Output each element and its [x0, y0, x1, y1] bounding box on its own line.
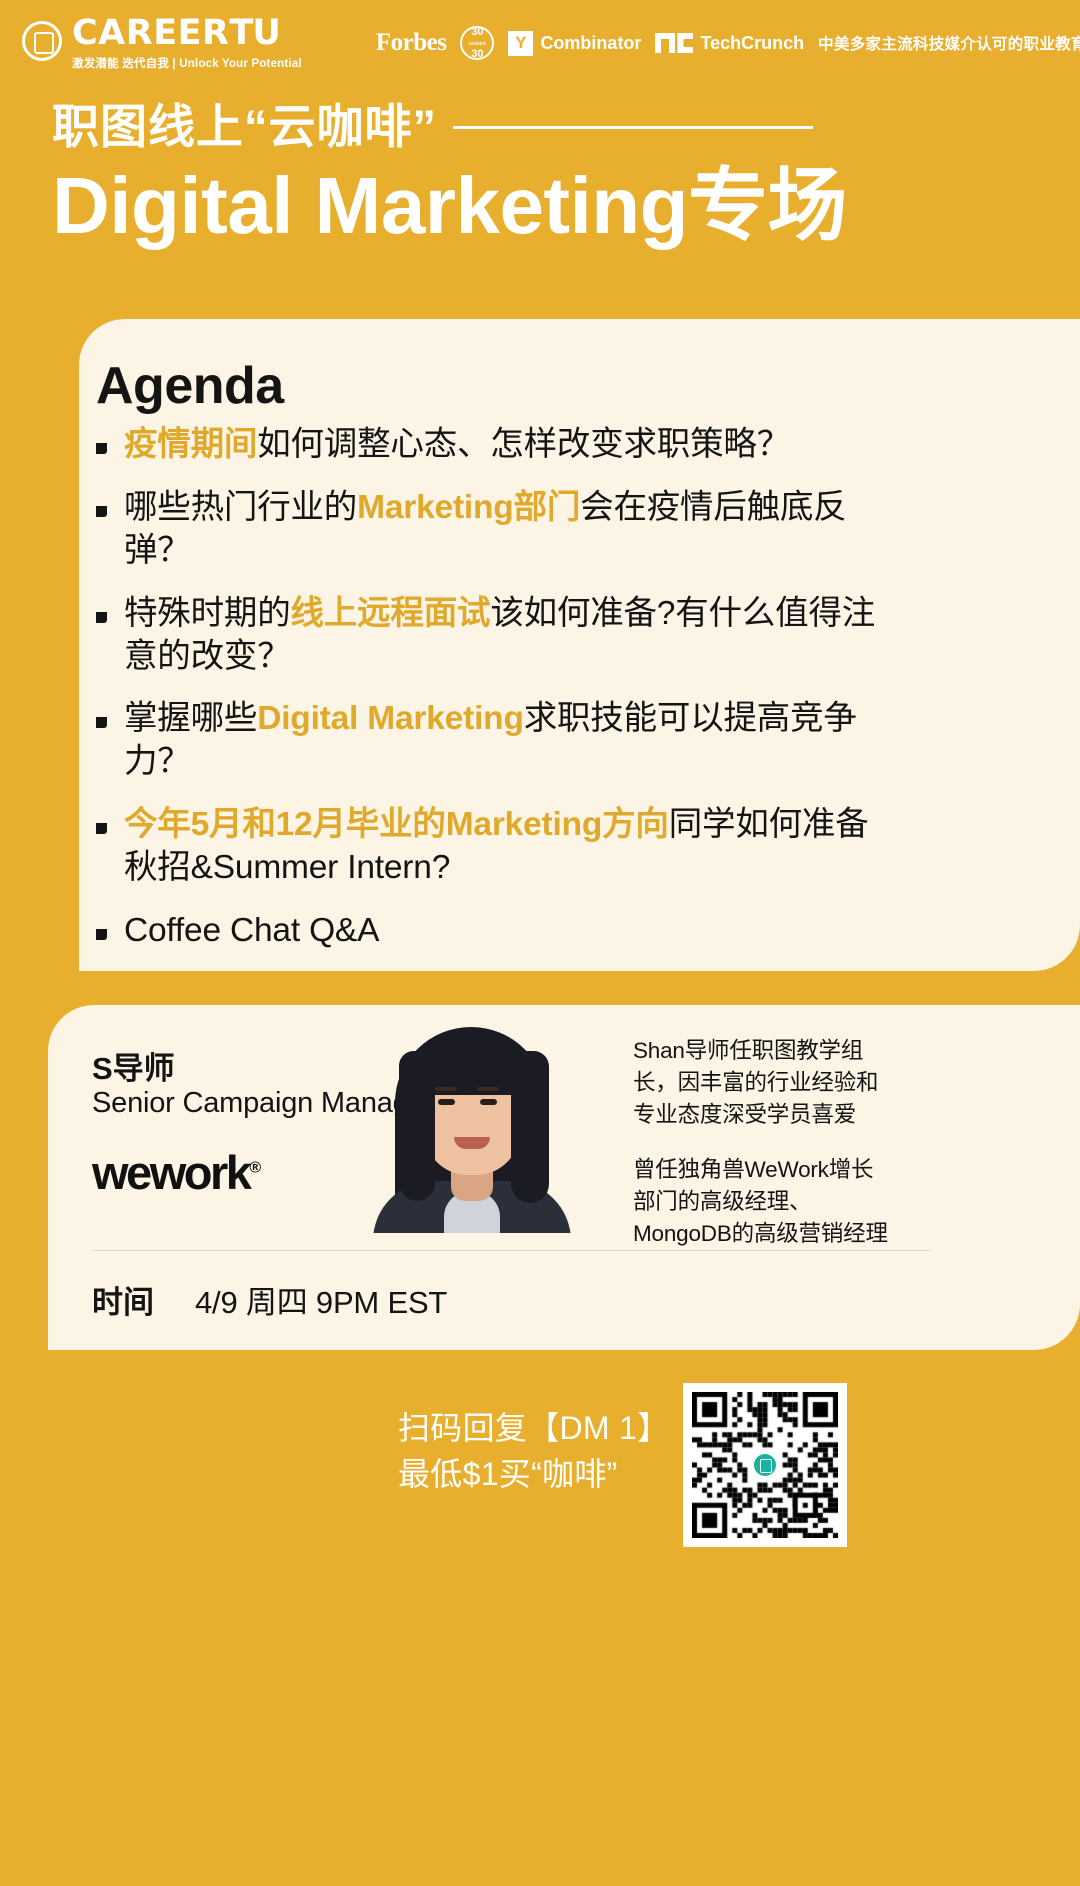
agenda-text-highlight: 线上远程面试	[291, 595, 491, 632]
event-time-label: 时间	[92, 1277, 154, 1322]
agenda-item: 今年5月和12月毕业的Marketing方向同学如何准备秋招&Summer In…	[96, 804, 886, 890]
speaker-portrait	[365, 1013, 578, 1233]
agenda-text-pre: 特殊时期的	[124, 595, 291, 632]
forbes-logo: Forbes	[376, 29, 447, 57]
agenda-item-text: 特殊时期的线上远程面试该如何准备?有什么值得注意的改变？	[124, 593, 886, 679]
agenda-text-pre: 哪些热门行业的	[124, 489, 357, 526]
techcrunch-mark-icon	[655, 33, 693, 53]
agenda-list: 疫情期间如何调整心态、怎样改变求职策略？哪些热门行业的Marketing部门会在…	[96, 424, 886, 973]
agenda-text-highlight: Digital Marketing	[257, 700, 524, 737]
press-logos: Forbes 30 UNDER 30 Y Combinator TechCrun…	[376, 26, 1080, 60]
agenda-item: 掌握哪些Digital Marketing求职技能可以提高竞争力？	[96, 698, 886, 784]
wework-logo-text: wework	[92, 1146, 249, 1199]
agenda-item: 特殊时期的线上远程面试该如何准备?有什么值得注意的改变？	[96, 593, 886, 679]
event-time-row: 时间 4/9 周四 9PM EST	[92, 1277, 447, 1322]
press-chinese-tagline: 中美多家主流科技媒介认可的职业教育平台	[818, 32, 1080, 54]
yc-label: Combinator	[540, 33, 641, 54]
qr-code-icon[interactable]	[692, 1392, 838, 1538]
qr-code-panel[interactable]	[683, 1383, 847, 1547]
agenda-item-text: 今年5月和12月毕业的Marketing方向同学如何准备秋招&Summer In…	[124, 804, 886, 890]
agenda-text-pre: 掌握哪些	[124, 700, 257, 737]
ycombinator-logo: Y Combinator	[508, 31, 641, 56]
agenda-item-text: 掌握哪些Digital Marketing求职技能可以提高竞争力？	[124, 698, 886, 784]
wework-registered-mark: ®	[249, 1159, 261, 1176]
qr-center-logo-glyph	[754, 1454, 776, 1476]
qr-center-logo-icon	[750, 1450, 780, 1480]
agenda-text-highlight: 疫情期间	[124, 426, 257, 463]
speaker-card: S导师 Senior Campaign Manager wework® Shan…	[48, 1005, 1080, 1350]
title-divider-rule	[453, 126, 813, 129]
portrait-hair-left	[399, 1051, 435, 1201]
cta-line-1: 扫码回复【DM 1】	[398, 1405, 669, 1451]
agenda-text-highlight: Marketing部门	[357, 489, 580, 526]
portrait-eye-right	[480, 1099, 497, 1105]
poster-subtitle: 职图线上“云咖啡”	[52, 100, 437, 154]
agenda-item-text: 疫情期间如何调整心态、怎样改变求职策略？	[124, 424, 790, 467]
careertu-circle-logo-icon	[22, 21, 62, 61]
portrait-eyebrow-left	[435, 1087, 457, 1091]
header-bar: CAREERTU 激发潜能 迭代自我 | Unlock Your Potenti…	[0, 0, 1080, 86]
bullet-icon	[96, 717, 107, 728]
agenda-item-text: Coffee Chat Q&A	[124, 910, 379, 953]
tc-c-glyph	[677, 33, 693, 53]
bullet-icon	[96, 612, 107, 623]
tc-t-glyph	[655, 33, 675, 53]
speaker-bio: Shan导师任职图教学组长，因丰富的行业经验和专业态度深受学员喜爱 曾任独角兽W…	[633, 1035, 893, 1250]
brand-logo[interactable]: CAREERTU 激发潜能 迭代自我 | Unlock Your Potenti…	[22, 15, 302, 71]
poster-title-block: 职图线上“云咖啡” Digital Marketing专场	[52, 100, 1042, 252]
cta-line-2: 最低$1买“咖啡”	[398, 1451, 669, 1497]
bullet-icon	[96, 506, 107, 517]
techcrunch-label: TechCrunch	[700, 33, 804, 54]
cta-text: 扫码回复【DM 1】 最低$1买“咖啡”	[398, 1405, 669, 1498]
event-time-value: 4/9 周四 9PM EST	[195, 1277, 447, 1322]
speaker-card-divider	[92, 1250, 930, 1251]
agenda-item-text: 哪些热门行业的Marketing部门会在疫情后触底反弹？	[124, 487, 886, 573]
bullet-icon	[96, 823, 107, 834]
poster-main-title: Digital Marketing专场	[52, 160, 1042, 252]
agenda-card: Agenda 疫情期间如何调整心态、怎样改变求职策略？哪些热门行业的Market…	[79, 319, 1080, 971]
agenda-item: 疫情期间如何调整心态、怎样改变求职策略？	[96, 424, 886, 467]
brand-tagline: 激发潜能 迭代自我 | Unlock Your Potential	[72, 55, 302, 71]
brand-name-part1: CAREER	[72, 13, 230, 53]
badge-under-label: UNDER	[469, 38, 487, 49]
title-subtitle-row: 职图线上“云咖啡”	[52, 100, 1042, 154]
brand-name-part2: TU	[230, 13, 280, 53]
portrait-hair-right	[511, 1051, 549, 1203]
badge-top-number: 30	[471, 27, 483, 38]
speaker-bio-line1: Shan导师任职图教学组长，因丰富的行业经验和专业态度深受学员喜爱	[633, 1035, 893, 1132]
portrait-eyebrow-right	[477, 1087, 499, 1091]
yc-letter-icon: Y	[508, 31, 533, 56]
agenda-text-highlight: 今年5月和12月毕业的Marketing方向	[124, 806, 669, 843]
forbes-30-under-30-badge-icon: 30 UNDER 30	[460, 26, 494, 60]
wework-logo: wework®	[92, 1145, 261, 1200]
brand-text-group: CAREERTU 激发潜能 迭代自我 | Unlock Your Potenti…	[72, 15, 302, 71]
techcrunch-logo: TechCrunch	[655, 33, 804, 54]
portrait-eye-left	[438, 1099, 455, 1105]
speaker-name: S导师	[92, 1043, 175, 1088]
agenda-text-post: 如何调整心态、怎样改变求职策略？	[257, 426, 790, 463]
speaker-bio-line2: 曾任独角兽WeWork增长部门的高级经理、MongoDB的高级营销经理	[633, 1154, 893, 1251]
bullet-icon	[96, 443, 107, 454]
brand-name: CAREERTU	[72, 15, 302, 52]
badge-bottom-number: 30	[471, 49, 483, 60]
agenda-item: Coffee Chat Q&A	[96, 910, 886, 953]
agenda-text-pre: Coffee Chat Q&A	[124, 912, 379, 949]
agenda-heading: Agenda	[96, 356, 284, 416]
bullet-icon	[96, 929, 107, 940]
agenda-item: 哪些热门行业的Marketing部门会在疫情后触底反弹？	[96, 487, 886, 573]
